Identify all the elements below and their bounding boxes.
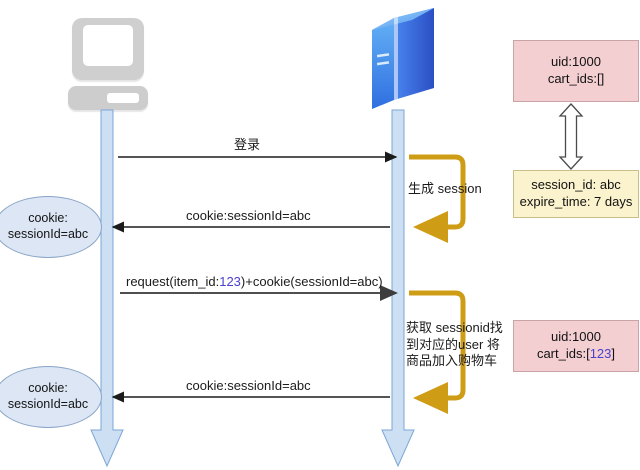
record-link-double-arrow (560, 104, 582, 169)
user-record-top-cart-prefix: cart_ids:[ (548, 71, 601, 86)
cookie-bubble-bottom-line-2: sessionId=abc (8, 397, 88, 413)
user-record-top-cart-suffix: ] (601, 71, 605, 86)
resolve-session-line-2: 到对应的user 将 (406, 337, 518, 354)
resolve-session-line-3: 商品加入购物车 (406, 353, 518, 370)
resolve-session-line-1: 获取 sessionid找 (406, 320, 518, 337)
desktop-computer-icon (68, 18, 148, 110)
user-record-top-box: uid:1000 cart_ids:[] (513, 40, 639, 102)
server-lifeline (382, 110, 414, 466)
user-record-top-cart-ids: cart_ids:[] (548, 71, 604, 88)
server-tower-icon (358, 8, 442, 112)
client-lifeline (91, 110, 123, 466)
user-record-bottom-uid: uid:1000 (551, 329, 601, 346)
message-label-set-cookie-2: cookie:sessionId=abc (186, 379, 311, 393)
session-record-session-id: session_id: abc (531, 177, 621, 194)
computer-base-unit (68, 86, 148, 110)
cookie-bubble-top-line-2: sessionId=abc (8, 227, 88, 243)
user-record-bottom-cart-ids: cart_ids:[123] (537, 346, 615, 363)
monitor-shell (72, 18, 144, 80)
message-label-set-cookie-1: cookie:sessionId=abc (186, 209, 311, 223)
user-record-bottom-cart-num: 123 (590, 346, 612, 361)
computer-drive-slot (107, 93, 139, 103)
user-record-bottom-cart-prefix: cart_ids:[ (537, 346, 590, 361)
request-label-prefix: request(item_id: (126, 274, 219, 289)
user-record-bottom-cart-suffix: ] (611, 346, 615, 361)
user-record-bottom-box: uid:1000 cart_ids:[123] (513, 320, 639, 372)
cookie-bubble-bottom: cookie: sessionId=abc (0, 366, 102, 428)
sequence-diagram-canvas: 登录 cookie:sessionId=abc request(item_id:… (0, 0, 640, 470)
session-record-box: session_id: abc expire_time: 7 days (513, 170, 639, 218)
request-label-suffix: )+cookie(sessionId=abc) (241, 274, 383, 289)
monitor-screen (83, 25, 133, 66)
session-record-expire-time: expire_time: 7 days (520, 194, 633, 211)
message-label-login: 登录 (234, 138, 260, 152)
request-label-item-id: 123 (219, 274, 241, 289)
self-call-label-resolve-session: 获取 sessionid找 到对应的user 将 商品加入购物车 (406, 320, 518, 370)
cookie-bubble-top: cookie: sessionId=abc (0, 196, 102, 258)
message-label-request: request(item_id:123)+cookie(sessionId=ab… (126, 275, 383, 289)
user-record-top-uid: uid:1000 (551, 54, 601, 71)
cookie-bubble-bottom-line-1: cookie: (28, 381, 68, 397)
cookie-bubble-top-line-1: cookie: (28, 211, 68, 227)
self-call-label-generate-session: 生成 session (408, 181, 482, 198)
